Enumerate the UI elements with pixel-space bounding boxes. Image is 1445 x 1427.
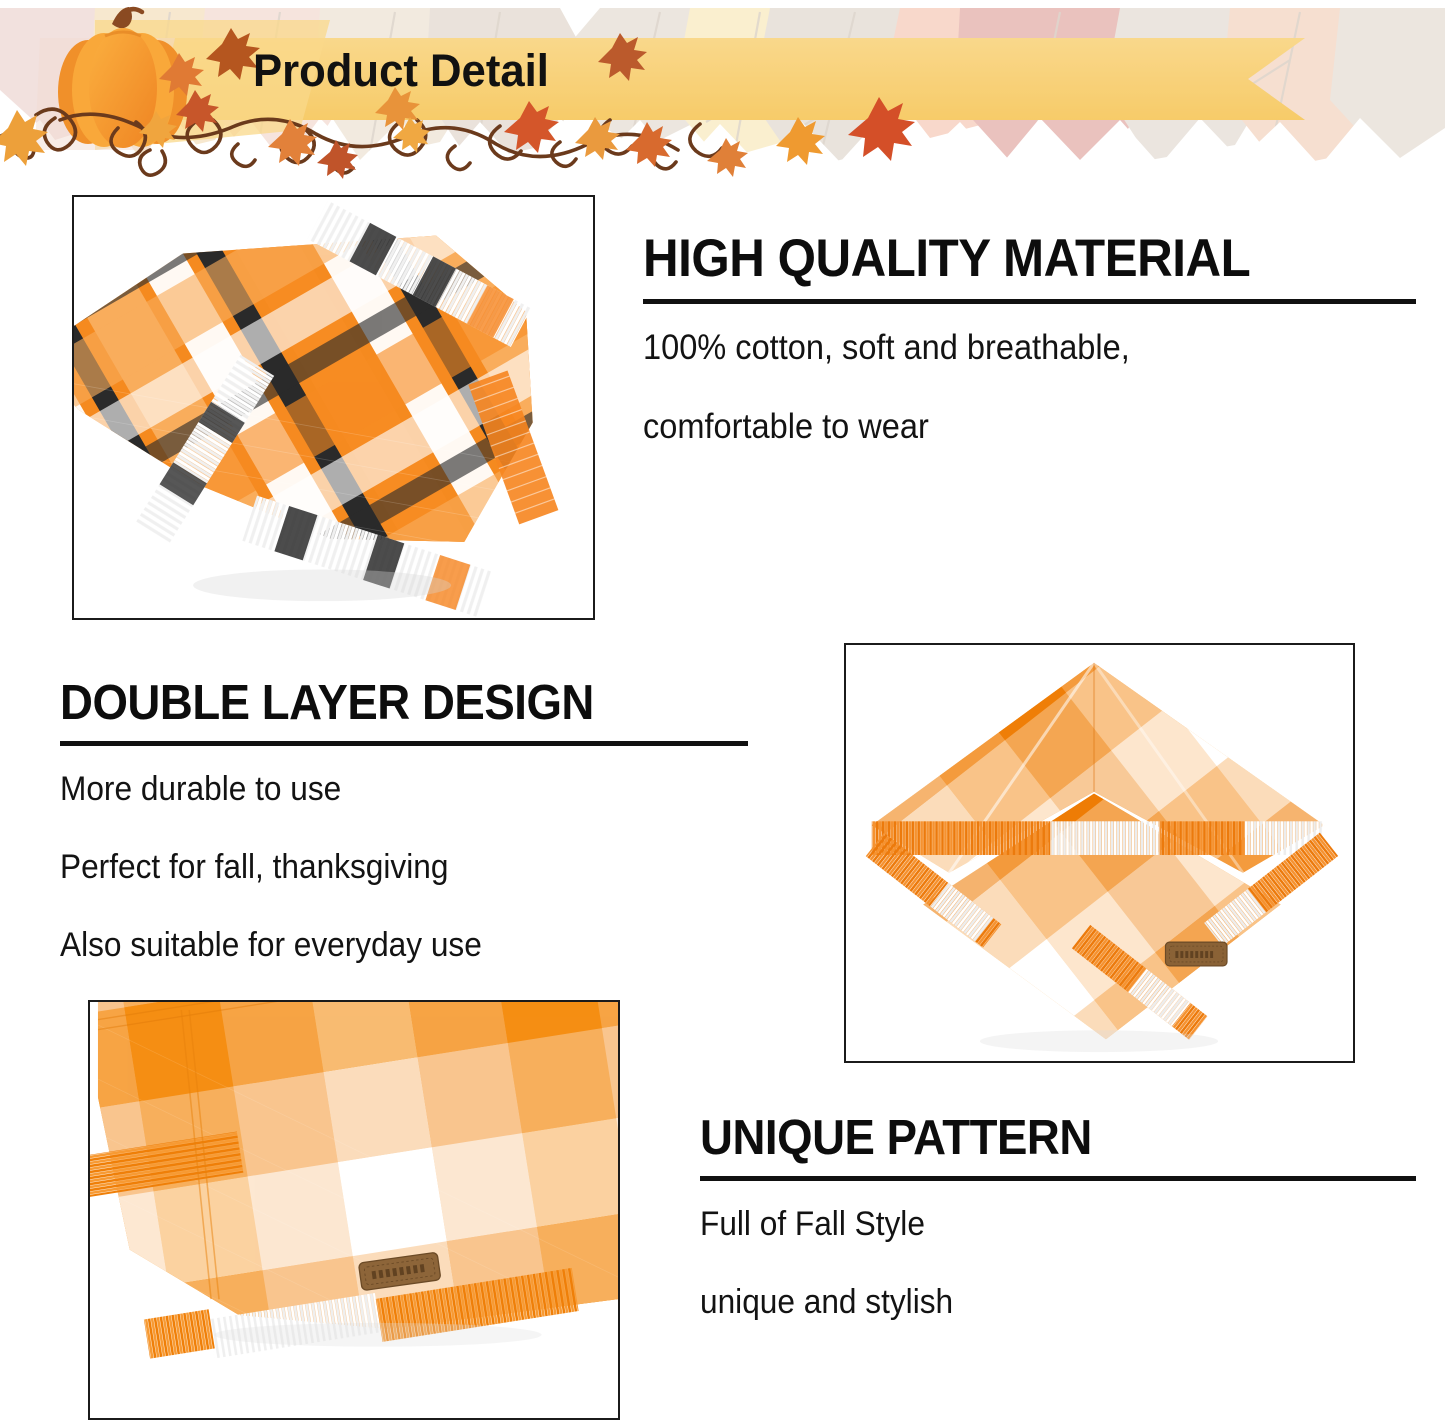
- leather-label: [1165, 942, 1227, 966]
- folded-triangle-bandana-illustration: [846, 645, 1353, 1061]
- feature-line: comfortable to wear: [643, 409, 1364, 444]
- feature-line: More durable to use: [60, 772, 702, 806]
- feature-title: DOUBLE LAYER DESIGN: [60, 675, 702, 731]
- page-title: Product Detail: [253, 45, 549, 97]
- feature-line: Full of Fall Style: [700, 1207, 1368, 1241]
- header-foliage-artwork: [0, 0, 1445, 185]
- buffalo-check-bandana-illustration: [90, 1002, 618, 1418]
- feature-unique-pattern: UNIQUE PATTERN Full of Fall Style unique…: [700, 1110, 1418, 1363]
- header-banner: Product Detail: [0, 0, 1445, 185]
- product-photo-folded-bandana: [844, 643, 1355, 1063]
- product-photo-buffalo-check: [88, 1000, 620, 1420]
- feature-double-layer-design: DOUBLE LAYER DESIGN More durable to use …: [60, 675, 750, 1006]
- feature-underline: [60, 741, 748, 746]
- product-photo-plaid-closeup: [72, 195, 595, 620]
- feature-title: HIGH QUALITY MATERIAL: [643, 228, 1364, 289]
- feature-line: Also suitable for everyday use: [60, 928, 702, 962]
- plaid-scarf-fringe-illustration: [74, 197, 593, 618]
- feature-line: 100% cotton, soft and breathable,: [643, 330, 1364, 365]
- feature-line: unique and stylish: [700, 1285, 1368, 1319]
- feature-body: More durable to use Perfect for fall, th…: [60, 772, 750, 962]
- feature-underline: [643, 299, 1416, 304]
- feature-underline: [700, 1176, 1416, 1181]
- feature-high-quality-material: HIGH QUALITY MATERIAL 100% cotton, soft …: [643, 228, 1418, 488]
- feature-body: Full of Fall Style unique and stylish: [700, 1207, 1418, 1319]
- feature-body: 100% cotton, soft and breathable, comfor…: [643, 330, 1418, 444]
- feature-title: UNIQUE PATTERN: [700, 1110, 1368, 1166]
- feature-line: Perfect for fall, thanksgiving: [60, 850, 702, 884]
